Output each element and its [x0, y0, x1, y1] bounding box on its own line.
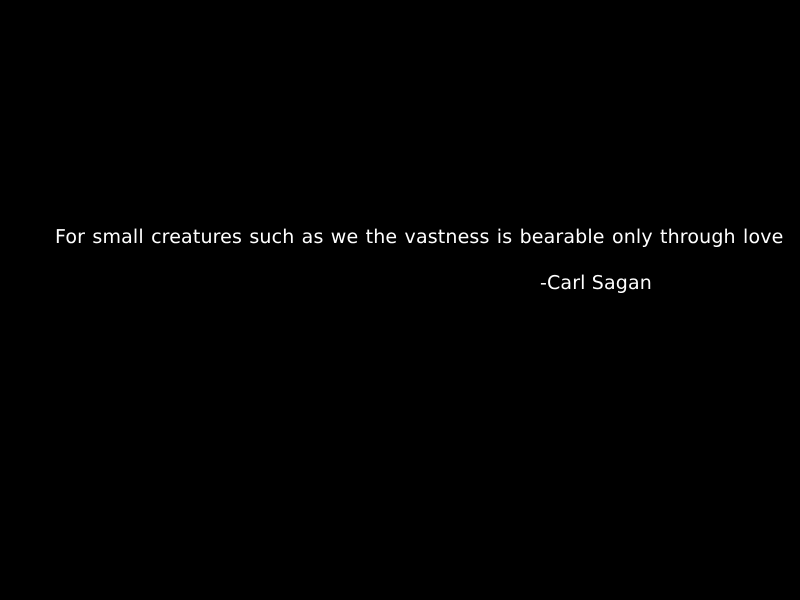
quote-block: For small creatures such as we the vastn…: [0, 0, 800, 600]
quote-canvas: For small creatures such as we the vastn…: [0, 0, 800, 600]
quote-attribution: -Carl Sagan: [540, 272, 652, 294]
quote-text: For small creatures such as we the vastn…: [55, 226, 755, 248]
